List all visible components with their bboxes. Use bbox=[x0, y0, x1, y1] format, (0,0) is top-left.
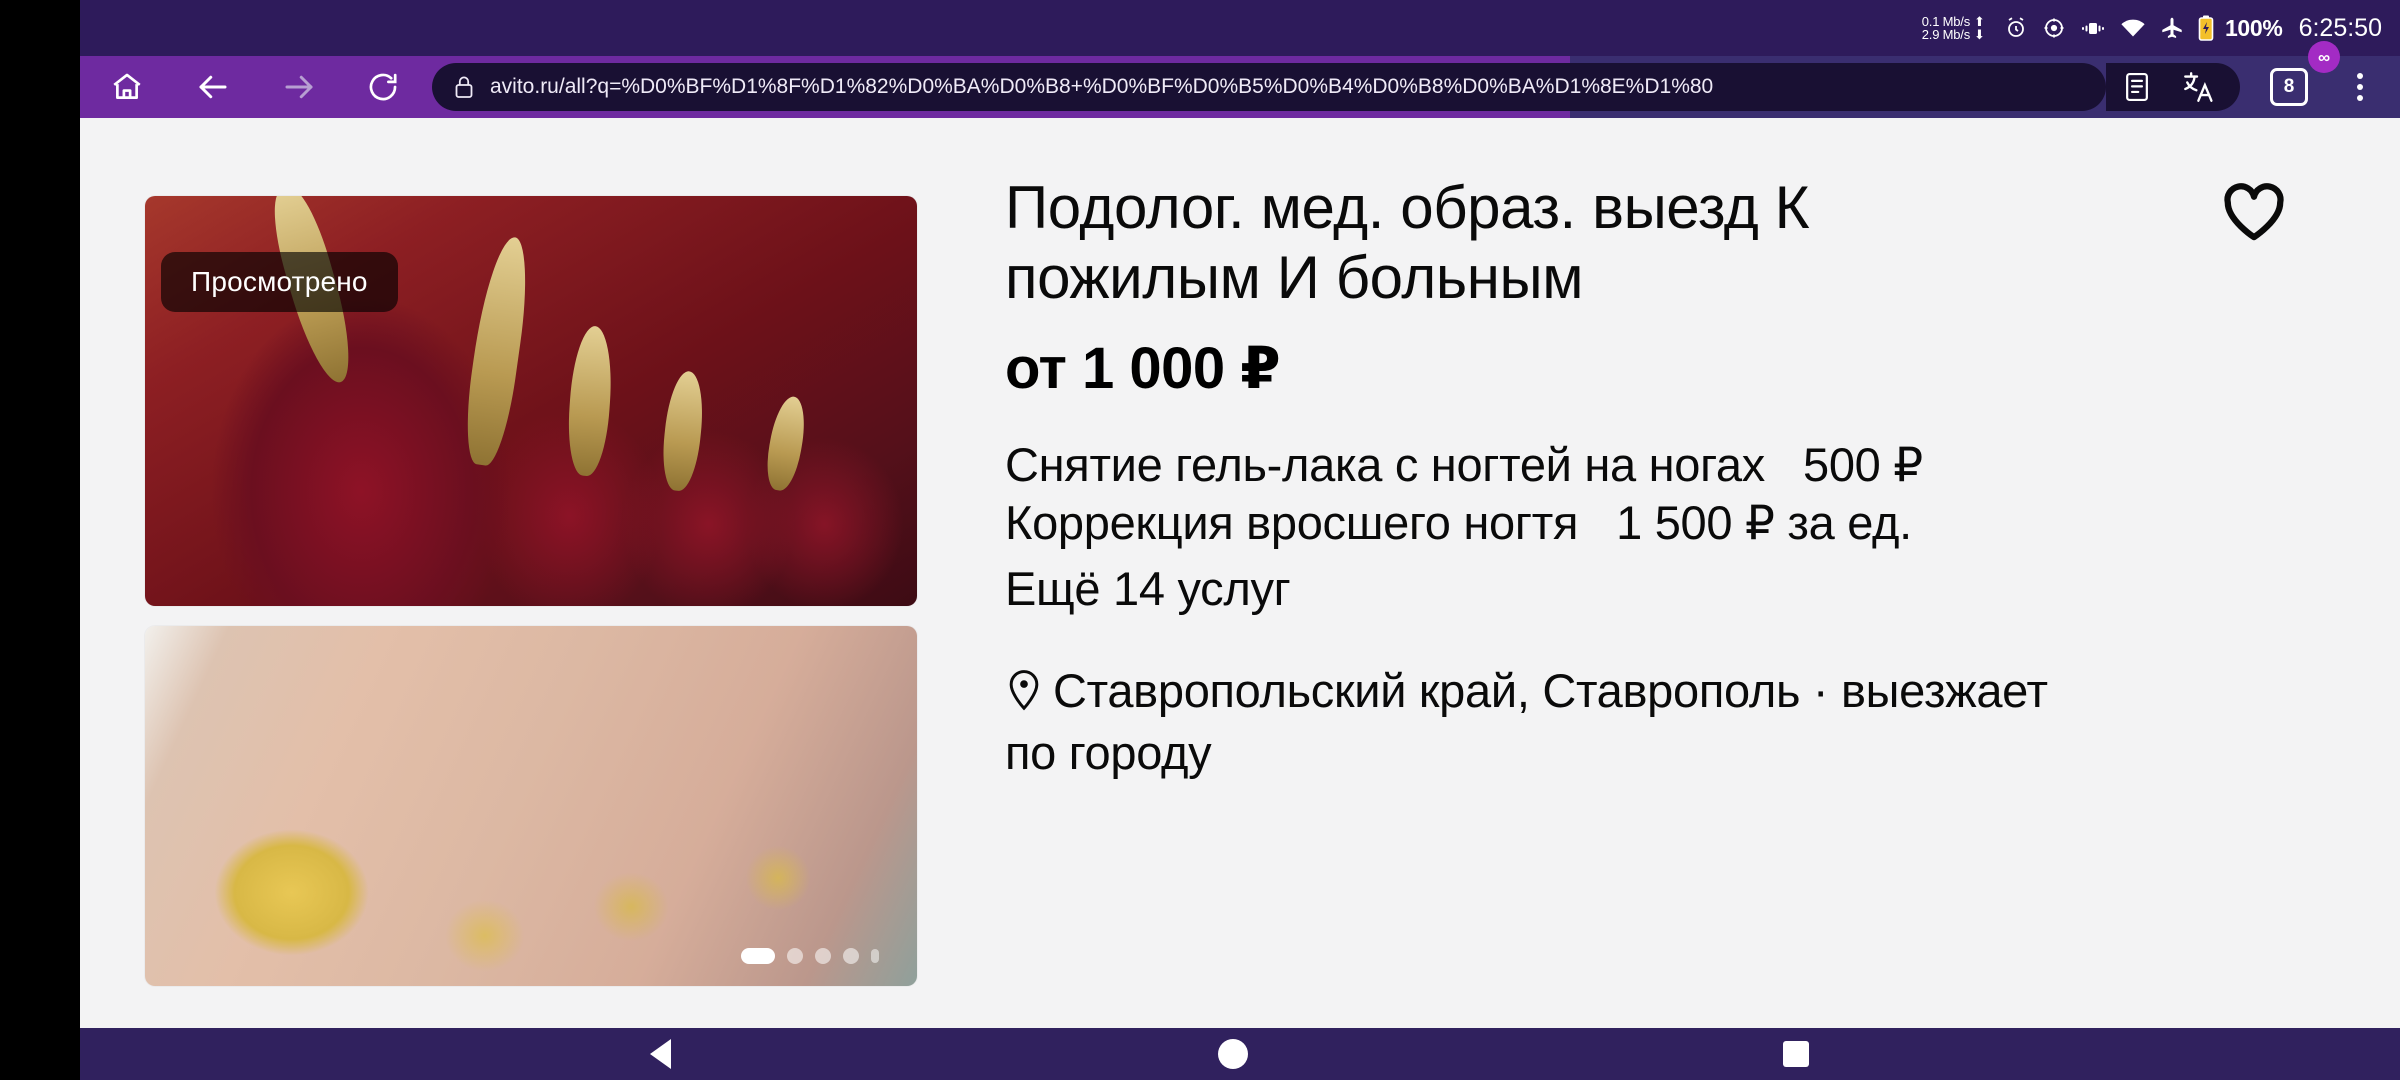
page-content: Просмотрено bbox=[80, 118, 2400, 1028]
browser-toolbar: avito.ru/all?q=%D0%BF%D1%8F%D1%82%D0%BA%… bbox=[80, 56, 2400, 118]
page-title: Подолог. мед. образ. выезд К пожилым И б… bbox=[1005, 173, 2045, 312]
photo-detail-shape bbox=[659, 369, 707, 492]
photo-detail-shape bbox=[459, 234, 535, 468]
service-price: 1 500 ₽ за ед. bbox=[1616, 494, 1912, 552]
tab-count-label: 8 bbox=[2270, 68, 2308, 106]
alarm-icon bbox=[2004, 16, 2028, 40]
photo-detail-shape bbox=[762, 394, 810, 493]
service-name: Коррекция вросшего ногтя bbox=[1005, 494, 1578, 552]
wifi-icon bbox=[2120, 17, 2146, 39]
gallery-pagination-dots[interactable] bbox=[741, 948, 879, 964]
android-home-icon[interactable] bbox=[1218, 1039, 1248, 1069]
gallery-dot-5[interactable] bbox=[871, 949, 879, 963]
map-pin-icon bbox=[1005, 666, 1043, 724]
seen-badge: Просмотрено bbox=[161, 252, 398, 312]
forward-arrow-icon[interactable] bbox=[268, 56, 330, 118]
url-bar[interactable]: avito.ru/all?q=%D0%BF%D1%8F%D1%82%D0%BA%… bbox=[432, 63, 2106, 111]
service-price: 500 ₽ bbox=[1803, 436, 1923, 494]
photo-detail-shape bbox=[565, 325, 615, 477]
status-clock: 6:25:50 bbox=[2299, 14, 2382, 43]
updown-arrows-icon: ⬆⬇ bbox=[1974, 15, 1985, 41]
toolbar-actions-group bbox=[2106, 63, 2240, 111]
tab-counter-button[interactable]: 8 ∞ bbox=[2252, 56, 2326, 118]
service-name: Снятие гель-лака с ногтей на ногах bbox=[1005, 436, 1765, 494]
device-frame: 0.1 Mb/s 2.9 Mb/s ⬆⬇ bbox=[0, 0, 2400, 1080]
heart-icon[interactable] bbox=[2218, 176, 2290, 248]
service-row[interactable]: Снятие гель-лака с ногтей на ногах 500 ₽ bbox=[1005, 436, 2370, 494]
more-services-link[interactable]: Ещё 14 услуг bbox=[1005, 561, 2370, 616]
url-text: avito.ru/all?q=%D0%BF%D1%8F%D1%82%D0%BA%… bbox=[490, 75, 1713, 99]
listing-gallery[interactable]: Просмотрено bbox=[145, 196, 917, 986]
service-row[interactable]: Коррекция вросшего ногтя 1 500 ₽ за ед. bbox=[1005, 494, 2370, 552]
listing-price: от 1 000 ₽ bbox=[1005, 334, 2370, 402]
network-speed-indicator: 0.1 Mb/s 2.9 Mb/s ⬆⬇ bbox=[1922, 15, 1985, 41]
home-icon[interactable] bbox=[96, 56, 158, 118]
android-recents-icon[interactable] bbox=[1783, 1041, 1809, 1067]
listing-details: Подолог. мед. образ. выезд К пожилым И б… bbox=[985, 118, 2400, 1028]
network-download-speed: 2.9 Mb/s bbox=[1922, 28, 1970, 41]
location-icon bbox=[2042, 16, 2066, 40]
gallery-dot-3[interactable] bbox=[815, 948, 831, 964]
lock-icon bbox=[452, 74, 476, 100]
battery-percent-label: 100% bbox=[2225, 15, 2283, 42]
location-text: Ставропольский край, Ставрополь · выезжа… bbox=[1005, 664, 2048, 779]
listing-location: Ставропольский край, Ставрополь · выезжа… bbox=[1005, 662, 2095, 783]
battery-icon bbox=[2198, 15, 2214, 41]
android-navigation-bar bbox=[80, 1028, 2400, 1080]
back-arrow-icon[interactable] bbox=[182, 56, 244, 118]
airplane-icon bbox=[2160, 16, 2184, 40]
overflow-menu-icon[interactable] bbox=[2330, 56, 2390, 118]
status-bar: 0.1 Mb/s 2.9 Mb/s ⬆⬇ bbox=[80, 0, 2400, 56]
gallery-photo-2[interactable] bbox=[145, 626, 917, 986]
reader-mode-icon[interactable] bbox=[2106, 63, 2168, 111]
translate-icon[interactable] bbox=[2168, 63, 2230, 111]
phone-screen: 0.1 Mb/s 2.9 Mb/s ⬆⬇ bbox=[80, 0, 2400, 1080]
vibrate-icon bbox=[2080, 16, 2106, 40]
gallery-photo-1[interactable]: Просмотрено bbox=[145, 196, 917, 606]
reload-icon[interactable] bbox=[352, 56, 414, 118]
services-list: Снятие гель-лака с ногтей на ногах 500 ₽… bbox=[1005, 436, 2370, 616]
gallery-dot-1[interactable] bbox=[741, 948, 775, 964]
gallery-dot-4[interactable] bbox=[843, 948, 859, 964]
gallery-dot-2[interactable] bbox=[787, 948, 803, 964]
android-back-icon[interactable] bbox=[650, 1039, 671, 1069]
